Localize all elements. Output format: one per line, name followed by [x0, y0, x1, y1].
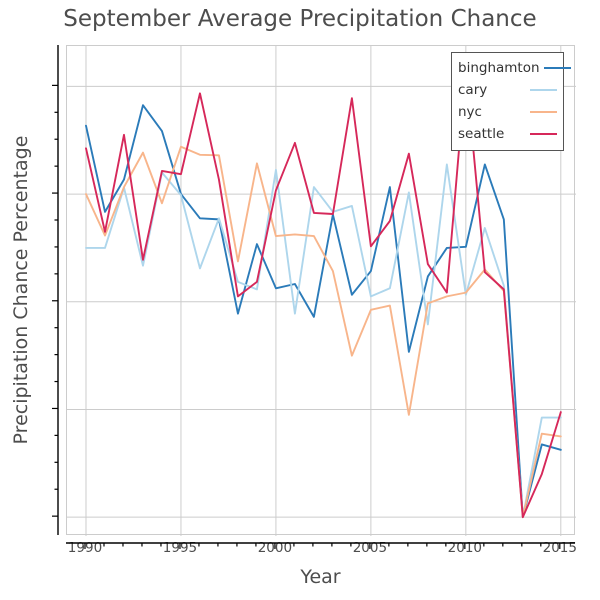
x-axis-label: Year	[66, 566, 575, 588]
legend-label: seattle	[458, 126, 504, 142]
legend-color-swatch	[530, 111, 557, 114]
x-tick-label: 1995	[150, 540, 210, 556]
legend-color-swatch	[530, 89, 557, 92]
legend-item-seattle[interactable]: seattle	[458, 123, 557, 145]
legend-color-swatch	[530, 133, 557, 136]
legend-label: binghamton	[458, 60, 540, 76]
x-tick-label: 2010	[435, 540, 495, 556]
chart-figure: September Average Precipitation Chance P…	[0, 0, 600, 600]
page-title: September Average Precipitation Chance	[0, 6, 600, 32]
legend-item-nyc[interactable]: nyc	[458, 101, 557, 123]
x-tick-label: 1990	[55, 540, 115, 556]
legend-label: nyc	[458, 104, 482, 120]
legend: binghamtoncarynycseattle	[451, 52, 564, 151]
y-axis-label: Precipitation Chance Percentage	[10, 40, 32, 540]
x-tick-label: 2000	[245, 540, 305, 556]
legend-color-swatch	[544, 67, 571, 70]
legend-item-binghamton[interactable]: binghamton	[458, 57, 557, 79]
legend-label: cary	[458, 82, 487, 98]
x-tick-label: 2005	[340, 540, 400, 556]
x-tick-label: 2015	[530, 540, 590, 556]
legend-item-cary[interactable]: cary	[458, 79, 557, 101]
series-line-cary	[86, 164, 561, 517]
series-line-nyc	[86, 147, 561, 517]
series-line-binghamton	[86, 105, 561, 517]
